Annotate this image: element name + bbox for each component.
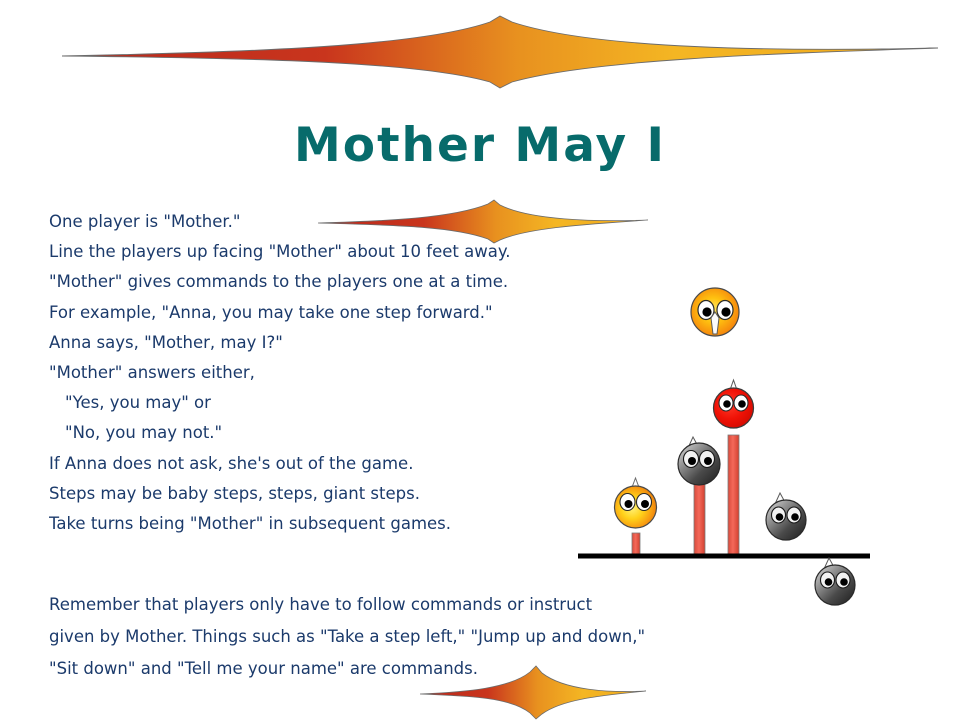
instruction-line: "Mother" gives commands to the players o…	[49, 267, 594, 297]
instruction-line: Anna says, "Mother, may I?"	[49, 328, 594, 358]
pole-short	[632, 533, 640, 555]
instructions-paragraph-1: One player is "Mother." Line the players…	[49, 207, 594, 539]
instruction-line-clipped: Remember that players only have to follo…	[49, 589, 592, 621]
top-banner-diamond	[60, 8, 940, 92]
page-title: Mother May I	[0, 118, 960, 173]
slide-canvas: Mother May I One player is "Mother." Lin…	[0, 0, 960, 720]
instruction-line: If Anna does not ask, she's out of the g…	[49, 449, 594, 479]
instruction-line: One player is "Mother."	[49, 207, 594, 237]
instruction-line: For example, "Anna, you may take one ste…	[49, 298, 594, 328]
instruction-line-indented: "No, you may not."	[49, 418, 594, 448]
players-illustration	[570, 262, 890, 632]
pole-medium	[694, 475, 705, 555]
instruction-line: "Sit down" and "Tell me your name" are c…	[49, 653, 689, 685]
player-gray-mid	[678, 437, 720, 485]
player-gray-ground	[766, 493, 806, 540]
instruction-line: "Mother" answers either,	[49, 358, 594, 388]
player-gold-top	[691, 288, 739, 336]
player-gold-short	[615, 478, 657, 528]
instruction-line: Line the players up facing "Mother" abou…	[49, 237, 594, 267]
pole-tall	[728, 435, 739, 555]
player-gray-below	[815, 558, 855, 605]
instruction-line: Take turns being "Mother" in subsequent …	[49, 509, 594, 539]
player-red-tall	[714, 380, 754, 428]
instruction-line-indented: "Yes, you may" or	[49, 388, 594, 418]
instruction-line: Steps may be baby steps, steps, giant st…	[49, 479, 594, 509]
